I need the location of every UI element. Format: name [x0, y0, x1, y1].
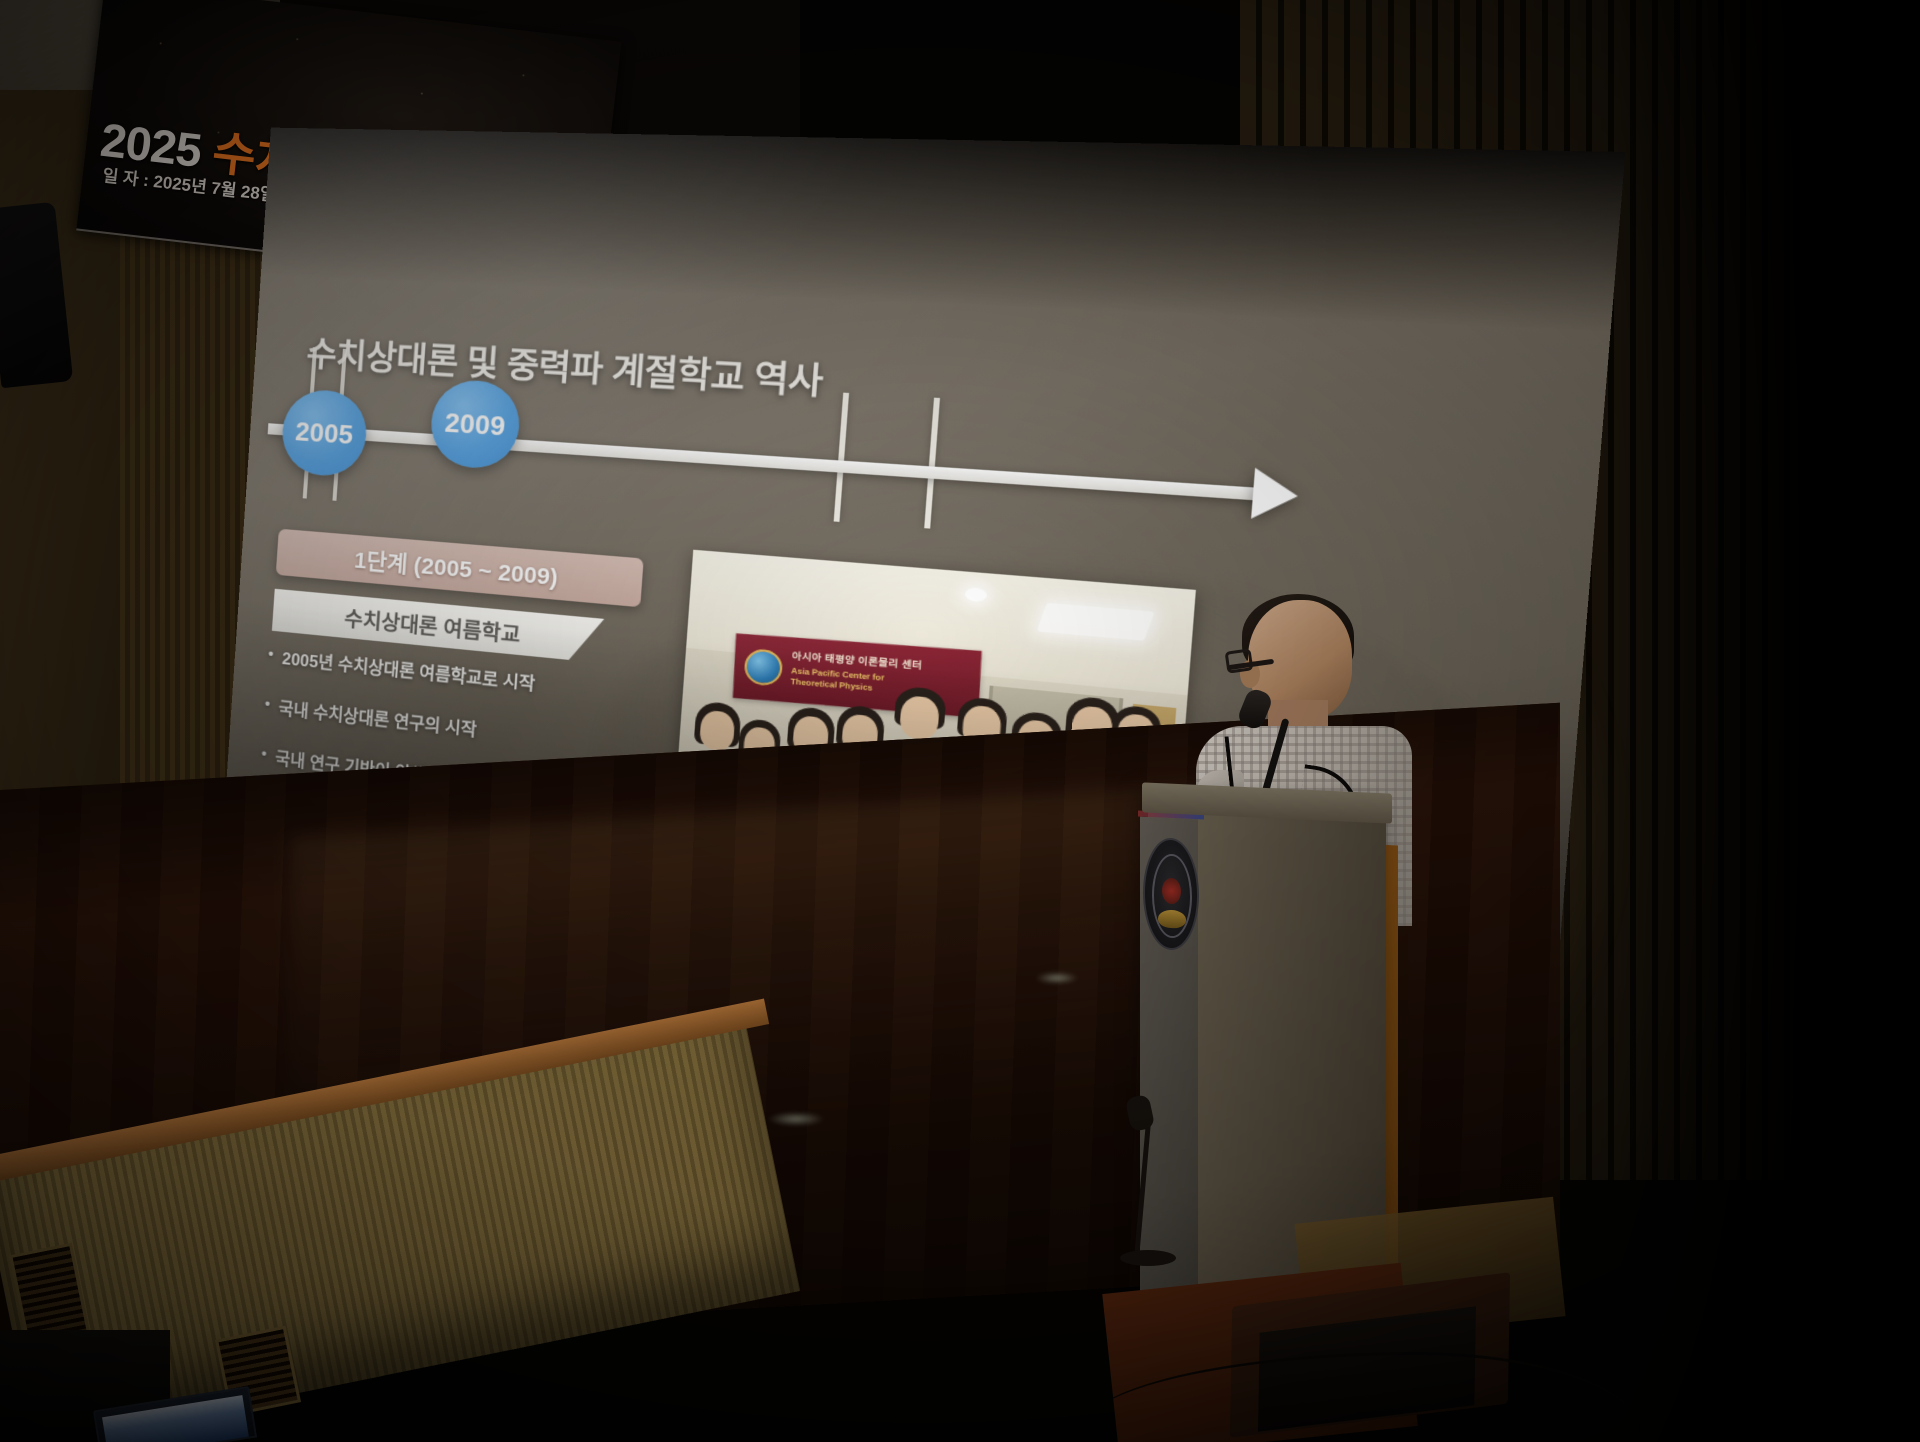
timeline-tick-2 — [924, 398, 940, 529]
timeline-node-label: 2009 — [444, 406, 507, 442]
timeline-axis — [268, 423, 1264, 501]
slide-title: 수치상대론 및 중력파 계절학교 역사 — [305, 327, 825, 405]
lecture-hall-photo: 2025 수치상대론 및 중력파 여름학교 일 자 : 2025년 7월 28일… — [0, 0, 1920, 1442]
emblem-core — [1162, 878, 1181, 905]
floor-light-glint — [768, 1112, 824, 1126]
microphone-base — [1120, 1250, 1176, 1266]
photo-banner-english: Asia Pacific Center for Theoretical Phys… — [790, 666, 884, 695]
emblem-laurel — [1158, 909, 1186, 928]
bullet-marker-icon: • — [261, 746, 268, 769]
screen-top-shadow — [261, 128, 1626, 333]
bullet-text: 국내 수치상대론 연구의 시작 — [278, 698, 478, 743]
bullet-marker-icon: • — [264, 696, 271, 719]
timeline-arrow-icon — [1251, 468, 1300, 522]
eyeglasses-icon — [1225, 648, 1254, 673]
right-dark-curtain — [1620, 0, 1920, 1442]
list-item: • 2005년 수치상대론 여름학교로 시작 — [267, 647, 656, 710]
timeline-tick-1 — [834, 393, 849, 522]
timeline-node-2009: 2009 — [428, 378, 522, 470]
globe-icon — [744, 648, 783, 686]
bullet-marker-icon: • — [267, 647, 274, 670]
timeline-node-2005: 2005 — [280, 388, 369, 478]
bullet-text: 2005년 수치상대론 여름학교로 시작 — [281, 648, 535, 697]
timeline-node-label: 2005 — [294, 415, 354, 450]
floor-light-glint — [1036, 972, 1078, 984]
institute-emblem-icon — [1143, 837, 1199, 952]
